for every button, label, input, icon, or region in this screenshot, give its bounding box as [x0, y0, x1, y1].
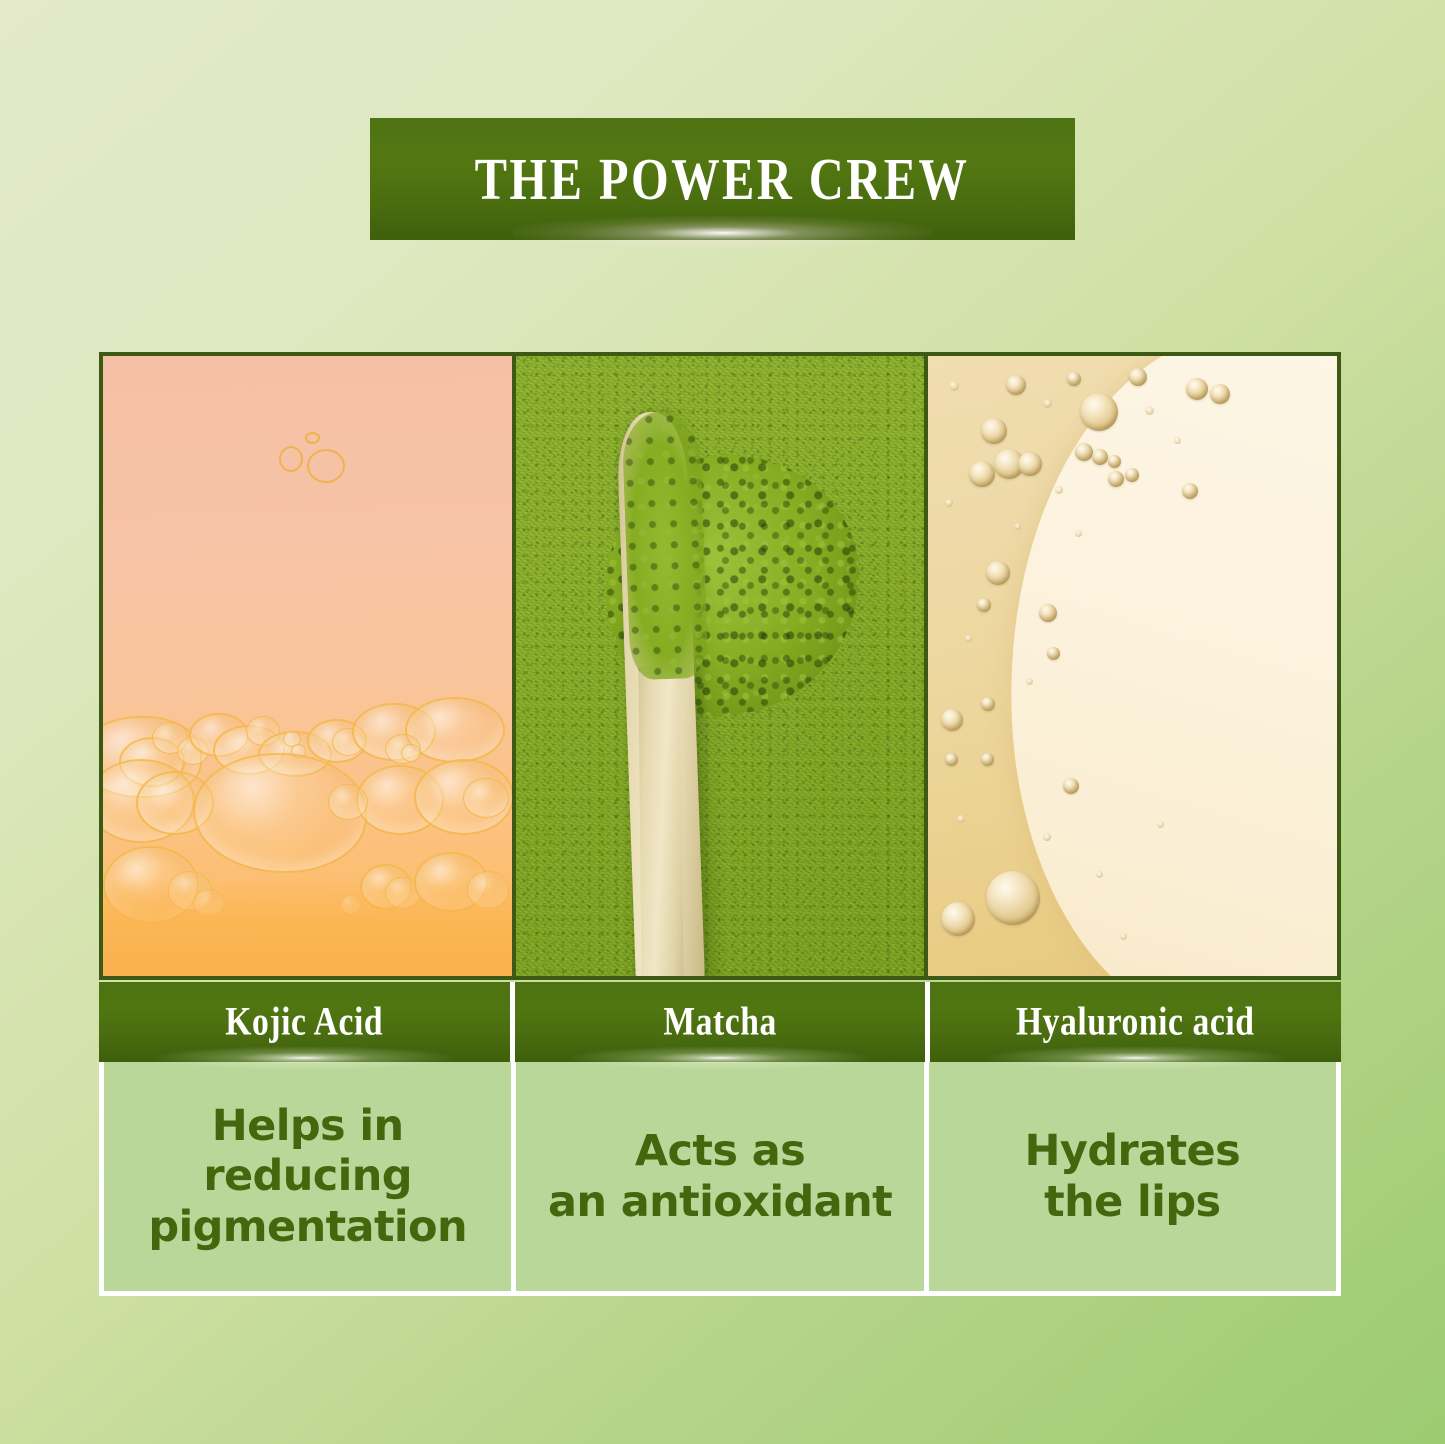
liquid-surface — [103, 877, 512, 976]
hyaluronic-acid-artwork — [928, 356, 1337, 976]
kojic-acid-artwork — [103, 356, 512, 976]
matcha-artwork — [516, 356, 925, 976]
label-text: Matcha — [663, 999, 777, 1045]
ingredient-image-kojic-acid — [103, 356, 512, 976]
header-banner: THE POWER CREW — [370, 118, 1075, 240]
ingredient-description-row: Helps in reducing pigmentation Acts as a… — [99, 1062, 1341, 1296]
ingredient-image-matcha — [512, 356, 925, 976]
banner-glow-accent — [513, 216, 933, 250]
ingredient-label-row: Kojic Acid Matcha Hyaluronic acid — [99, 982, 1341, 1062]
ingredient-description-hyaluronic-acid: Hydrates the lips — [929, 1062, 1336, 1291]
ingredient-description-kojic-acid: Helps in reducing pigmentation — [104, 1062, 511, 1291]
ingredient-description-matcha: Acts as an antioxidant — [516, 1062, 923, 1291]
serum-swoosh — [992, 356, 1337, 976]
ingredient-label-matcha: Matcha — [515, 982, 926, 1062]
page-title: THE POWER CREW — [475, 150, 970, 209]
ingredient-label-kojic-acid: Kojic Acid — [99, 982, 510, 1062]
description-text: Hydrates the lips — [1025, 1126, 1241, 1227]
label-text: Kojic Acid — [225, 999, 383, 1045]
ingredient-infographic: THE POWER CREW — [0, 0, 1445, 1444]
ingredient-label-hyaluronic-acid: Hyaluronic acid — [930, 982, 1341, 1062]
label-text: Hyaluronic acid — [1016, 999, 1255, 1045]
description-text: Acts as an antioxidant — [548, 1126, 892, 1227]
ingredient-image-row — [99, 352, 1341, 980]
description-text: Helps in reducing pigmentation — [148, 1101, 467, 1252]
cards-block: Kojic Acid Matcha Hyaluronic acid Helps … — [99, 352, 1341, 1296]
ingredient-image-hyaluronic-acid — [924, 356, 1337, 976]
